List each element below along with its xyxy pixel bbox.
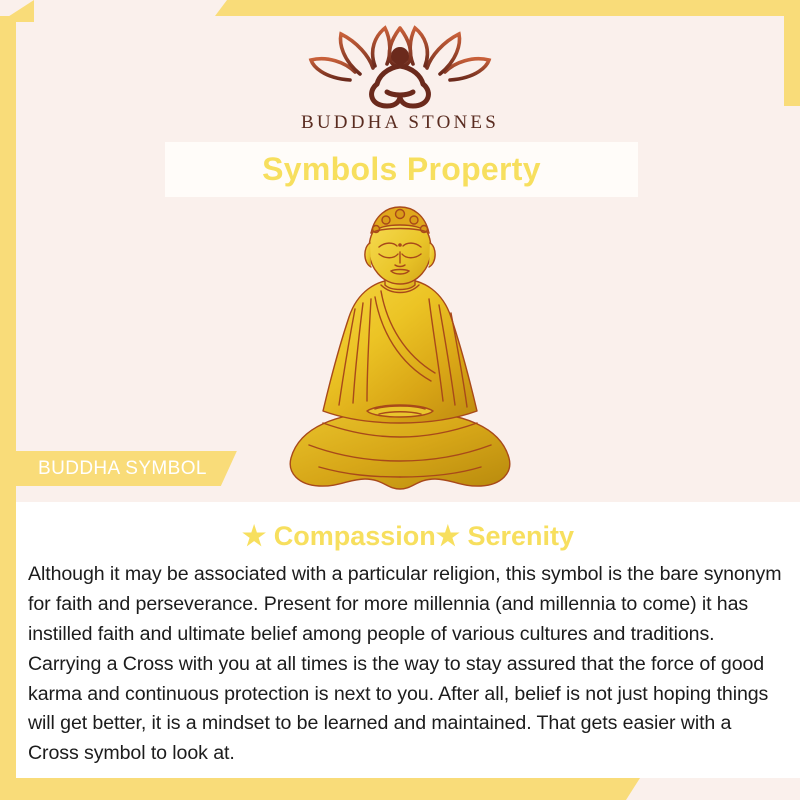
brand-name: BUDDHA STONES [301, 112, 499, 134]
content-panel: ★ Compassion★ Serenity Although it may b… [16, 502, 800, 778]
title-banner: Symbols Property [165, 142, 638, 197]
page-title: Symbols Property [262, 151, 541, 188]
golden-buddha-statue [275, 205, 525, 500]
section-tag-label: BUDDHA SYMBOL [38, 458, 207, 480]
content-subheading: ★ Compassion★ Serenity [16, 512, 800, 556]
lotus-meditation-icon [305, 22, 495, 110]
decorative-bar-bottom [0, 778, 640, 800]
infographic-page: BUDDHA STONES Symbols Property [0, 0, 800, 800]
decorative-corner-bottom-right [0, 0, 34, 22]
content-paragraph: Although it may be associated with a par… [16, 556, 800, 768]
decorative-bar-top [215, 0, 800, 16]
brand-logo: BUDDHA STONES [0, 22, 800, 134]
section-tag: BUDDHA SYMBOL [16, 451, 237, 486]
